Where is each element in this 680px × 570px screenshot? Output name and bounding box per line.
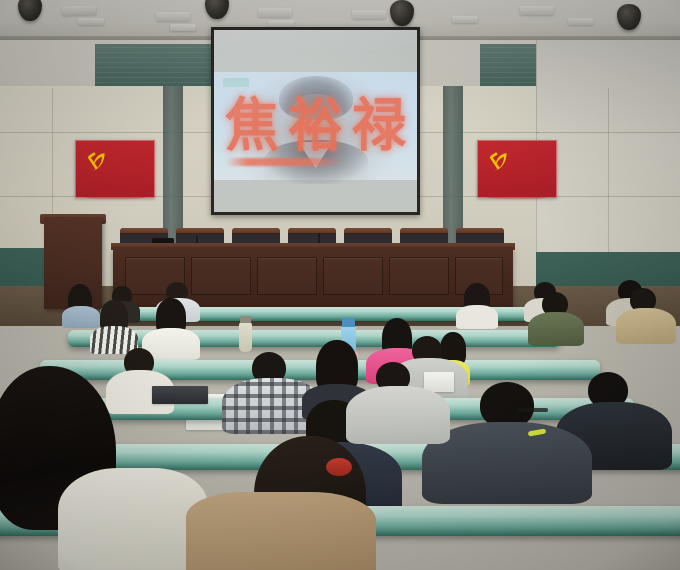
wall-accent-band-left <box>95 44 215 88</box>
body <box>346 386 450 444</box>
body <box>616 308 676 344</box>
body <box>528 312 584 346</box>
slide-char-3: 禄 <box>352 97 406 154</box>
ceiling-lamp <box>156 12 190 21</box>
chair-rail <box>400 228 448 233</box>
glasses-icon <box>518 408 548 412</box>
wall-pillar-right <box>443 86 463 246</box>
ceiling-lamp <box>352 10 386 19</box>
slide-char-1: 焦 <box>225 97 279 154</box>
chair-rail <box>344 228 392 233</box>
slide-underline-stroke <box>226 158 344 166</box>
ceiling-lamp <box>268 20 294 27</box>
red-hair-tie <box>326 458 352 476</box>
ceiling-lamp <box>78 18 104 25</box>
body <box>62 306 100 328</box>
cpc-flag-left <box>75 140 155 198</box>
chair-rail <box>288 228 336 233</box>
table-panel <box>257 257 317 295</box>
ceiling-lamp <box>62 5 96 15</box>
slide-title: 焦 裕 禄 <box>214 86 417 166</box>
ceiling-lamp <box>520 6 554 15</box>
chair-rail <box>120 228 168 233</box>
projection-screen-surface: 焦 裕 禄 <box>214 30 417 212</box>
ceiling-lamp <box>568 18 594 25</box>
table-panel <box>323 257 383 295</box>
table-panel <box>389 257 449 295</box>
ceiling-lamp <box>258 8 292 17</box>
body <box>186 492 376 570</box>
chair-rail <box>232 228 280 233</box>
water-bottle-clear <box>239 322 252 352</box>
table-panel <box>191 257 251 295</box>
ceiling-lamp <box>170 24 196 31</box>
bottle-cap <box>342 318 355 327</box>
body <box>456 305 498 329</box>
chair-rail <box>456 228 504 233</box>
chair-rail <box>176 228 224 233</box>
projected-slide: 焦 裕 禄 <box>214 72 417 180</box>
projection-screen: 焦 裕 禄 <box>211 27 420 215</box>
lecture-hall-photo: 焦 裕 禄 <box>0 0 680 570</box>
laptop <box>152 386 208 404</box>
hammer-and-sickle-icon <box>487 149 513 175</box>
ceiling-lamp <box>452 16 478 23</box>
hammer-and-sickle-icon <box>85 149 111 175</box>
bottle-cap <box>240 316 251 323</box>
wall-pillar-left <box>163 86 183 246</box>
slide-char-2: 裕 <box>288 97 342 154</box>
cpc-flag-right <box>477 140 557 198</box>
